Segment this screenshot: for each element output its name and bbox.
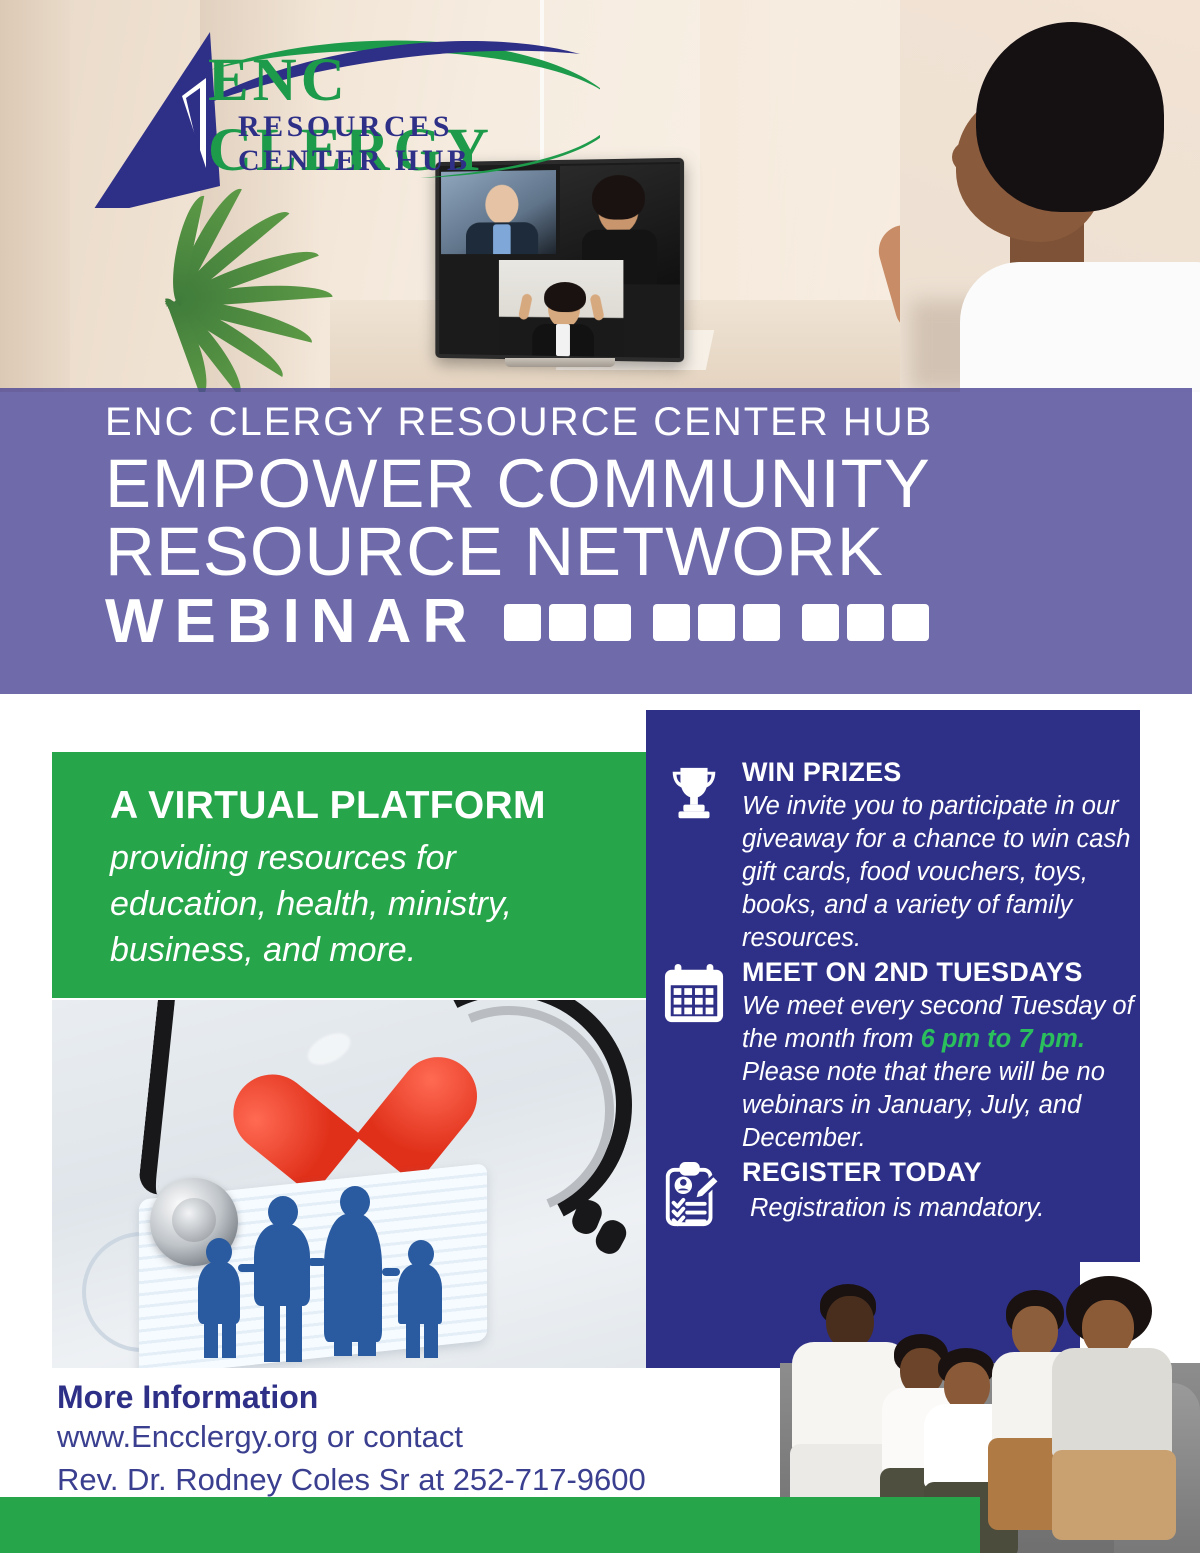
paper-family-mother <box>320 1186 388 1358</box>
feature-body: We invite you to participate in our give… <box>742 790 1140 956</box>
banner-title-line-1: EMPOWER COMMUNITY <box>105 451 1192 517</box>
virtual-platform-title: A VIRTUAL PLATFORM <box>110 786 612 827</box>
paper-family-father <box>248 1196 316 1362</box>
monitor-stand <box>505 358 615 367</box>
clipboard-checklist-icon <box>646 1158 742 1230</box>
feature-register-today: REGISTER TODAY Registration is mandatory… <box>646 1158 1140 1230</box>
feature-win-prizes: WIN PRIZES We invite you to participate … <box>646 758 1140 955</box>
feature-body-highlight: 6 pm to 7 pm. <box>921 1025 1085 1053</box>
webinar-squares-group-3 <box>802 604 937 641</box>
woman-profile-photo <box>900 0 1200 392</box>
webinar-square <box>892 604 929 641</box>
virtual-platform-card: A VIRTUAL PLATFORM providing resources f… <box>52 752 646 998</box>
footer-contact: More Information www.Encclergy.org or co… <box>57 1378 757 1502</box>
banner-title-line-2: RESOURCE NETWORK <box>105 519 1192 585</box>
paper-family-child-right <box>394 1240 450 1358</box>
webinar-row: WEBINAR <box>105 591 1192 653</box>
footer-heading: More Information <box>57 1378 757 1416</box>
paper-family-linked-hands <box>308 1258 326 1266</box>
webinar-square <box>549 604 586 641</box>
webinar-square <box>653 604 690 641</box>
feature-body: Registration is mandatory. <box>742 1192 1140 1225</box>
logo-secondary-text: RESOURCES CENTER HUB <box>238 110 600 178</box>
calendar-icon <box>646 958 742 1155</box>
paper-family-child-left <box>192 1238 246 1358</box>
webinar-square <box>504 604 541 641</box>
virtual-platform-body: providing resources for education, healt… <box>110 835 612 974</box>
trophy-icon <box>646 758 742 955</box>
feature-body-part-2: Please note that there will be no webina… <box>742 1058 1105 1152</box>
feature-meet-on-2nd-tuesdays: MEET ON 2ND TUESDAYS We meet every secon… <box>646 958 1140 1155</box>
feature-title: MEET ON 2ND TUESDAYS <box>742 958 1140 988</box>
feature-title: REGISTER TODAY <box>742 1158 1140 1188</box>
flyer-page: ENC CLERGY RESOURCES CENTER HUB ENC CLER… <box>0 0 1200 1553</box>
stethoscope-tube-left <box>138 1000 179 1194</box>
red-heart <box>271 1007 435 1162</box>
footer-website-line: www.Encclergy.org or contact <box>57 1416 757 1459</box>
webinar-square <box>743 604 780 641</box>
family-member-mother <box>1048 1276 1178 1536</box>
footer-green-bar <box>0 1497 980 1553</box>
paper-family-linked-hands <box>382 1268 400 1276</box>
webinar-square <box>698 604 735 641</box>
webinar-squares-group-2 <box>653 604 788 641</box>
logo: ENC CLERGY RESOURCES CENTER HUB <box>60 18 600 208</box>
banner-kicker: ENC CLERGY RESOURCE CENTER HUB <box>105 400 1192 445</box>
potted-palm-plant <box>48 222 318 392</box>
webinar-squares-group-1 <box>504 604 639 641</box>
title-banner: ENC CLERGY RESOURCE CENTER HUB EMPOWER C… <box>0 388 1192 694</box>
webinar-label: WEBINAR <box>105 591 478 653</box>
health-photo <box>52 1000 646 1368</box>
hero-photo: ENC CLERGY RESOURCES CENTER HUB <box>0 0 1200 392</box>
feature-title: WIN PRIZES <box>742 758 1140 788</box>
paper-family-linked-hands <box>238 1264 258 1272</box>
webinar-square <box>594 604 631 641</box>
video-tile-participant-3 <box>499 260 623 359</box>
feature-body: We meet every second Tuesday of the mont… <box>742 990 1140 1156</box>
footer-contact-line: Rev. Dr. Rodney Coles Sr at 252-717-9600 <box>57 1459 757 1502</box>
webinar-square <box>802 604 839 641</box>
webinar-square <box>847 604 884 641</box>
